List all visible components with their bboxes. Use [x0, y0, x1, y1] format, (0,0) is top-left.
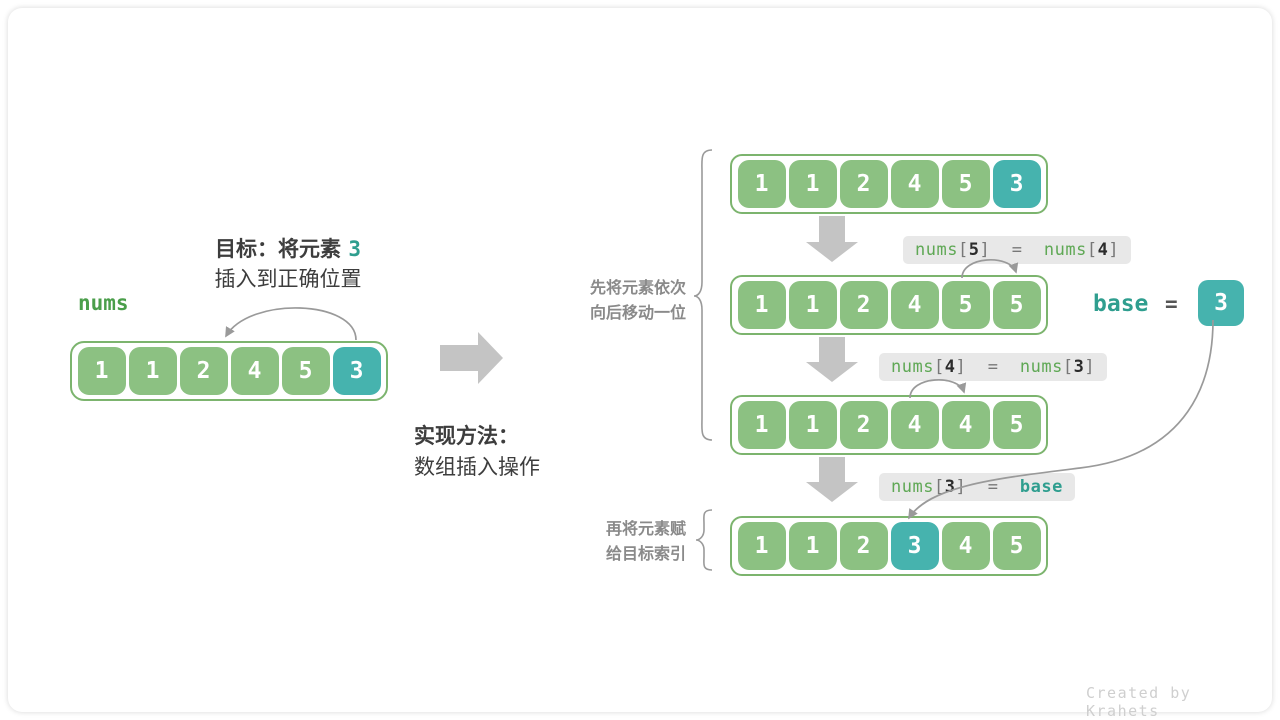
method-text: 实现方法： 数组插入操作: [414, 421, 540, 483]
step-2-cell-1: 1: [789, 401, 837, 449]
step-array-shift-4: 112445: [730, 395, 1048, 455]
step-1-cell-2: 2: [840, 281, 888, 329]
goal-line-2: 插入到正确位置: [158, 264, 418, 294]
goal-line-1: 目标：将元素 3: [158, 234, 418, 264]
step-2-cell-2: 2: [840, 401, 888, 449]
step-3-cell-1: 1: [789, 522, 837, 570]
note-shift-line-1: 先将元素依次: [538, 275, 686, 300]
step-1-cell-3: 4: [891, 281, 939, 329]
code-chip-shift-4: nums[4] = nums[3]: [879, 353, 1107, 381]
goal-text: 目标：将元素 3 插入到正确位置: [158, 234, 418, 294]
nums-cell-4: 5: [282, 347, 330, 395]
step-2-cell-3: 4: [891, 401, 939, 449]
nums-cell-0: 1: [78, 347, 126, 395]
base-equals: =: [1165, 292, 1178, 316]
step-1-cell-0: 1: [738, 281, 786, 329]
note-assign-line-1: 再将元素赋: [538, 516, 686, 541]
nums-label: nums: [78, 291, 129, 315]
nums-cell-3: 4: [231, 347, 279, 395]
code-chip-assign-base: nums[3] = base: [879, 473, 1075, 501]
step-1-cell-4: 5: [942, 281, 990, 329]
step-0-cell-0: 1: [738, 160, 786, 208]
nums-cell-5: 3: [333, 347, 381, 395]
nums-array: 112453: [70, 341, 388, 401]
nums-cell-1: 1: [129, 347, 177, 395]
note-shift: 先将元素依次 向后移动一位: [538, 275, 686, 325]
step-3-cell-5: 5: [993, 522, 1041, 570]
step-3-cell-0: 1: [738, 522, 786, 570]
step-1-cell-1: 1: [789, 281, 837, 329]
code-chip-shift-5: nums[5] = nums[4]: [903, 236, 1131, 264]
step-0-cell-2: 2: [840, 160, 888, 208]
note-assign-line-2: 给目标索引: [538, 541, 686, 566]
step-1-cell-5: 5: [993, 281, 1041, 329]
watermark: Created by Krahets: [1086, 684, 1272, 720]
step-0-cell-3: 4: [891, 160, 939, 208]
step-array-shift-5: 112455: [730, 275, 1048, 335]
step-3-cell-4: 4: [942, 522, 990, 570]
step-2-cell-0: 1: [738, 401, 786, 449]
nums-cell-2: 2: [180, 347, 228, 395]
step-array-assign-base: 112345: [730, 516, 1048, 576]
step-0-cell-4: 5: [942, 160, 990, 208]
diagram-canvas: 目标：将元素 3 插入到正确位置 nums 112453 实现方法： 数组插入操…: [8, 8, 1272, 712]
goal-value: 3: [348, 237, 361, 261]
step-0-cell-5: 3: [993, 160, 1041, 208]
step-3-cell-3: 3: [891, 522, 939, 570]
base-label: base: [1093, 291, 1148, 317]
step-array-initial: 112453: [730, 154, 1048, 214]
base-value-box: 3: [1198, 280, 1244, 326]
step-2-cell-4: 4: [942, 401, 990, 449]
step-2-cell-5: 5: [993, 401, 1041, 449]
note-shift-line-2: 向后移动一位: [538, 300, 686, 325]
step-3-cell-2: 2: [840, 522, 888, 570]
method-line-1: 实现方法：: [414, 421, 540, 452]
note-assign: 再将元素赋 给目标索引: [538, 516, 686, 566]
method-line-2: 数组插入操作: [414, 452, 540, 483]
goal-line-1-prefix: 目标：将元素: [215, 237, 341, 261]
step-0-cell-1: 1: [789, 160, 837, 208]
